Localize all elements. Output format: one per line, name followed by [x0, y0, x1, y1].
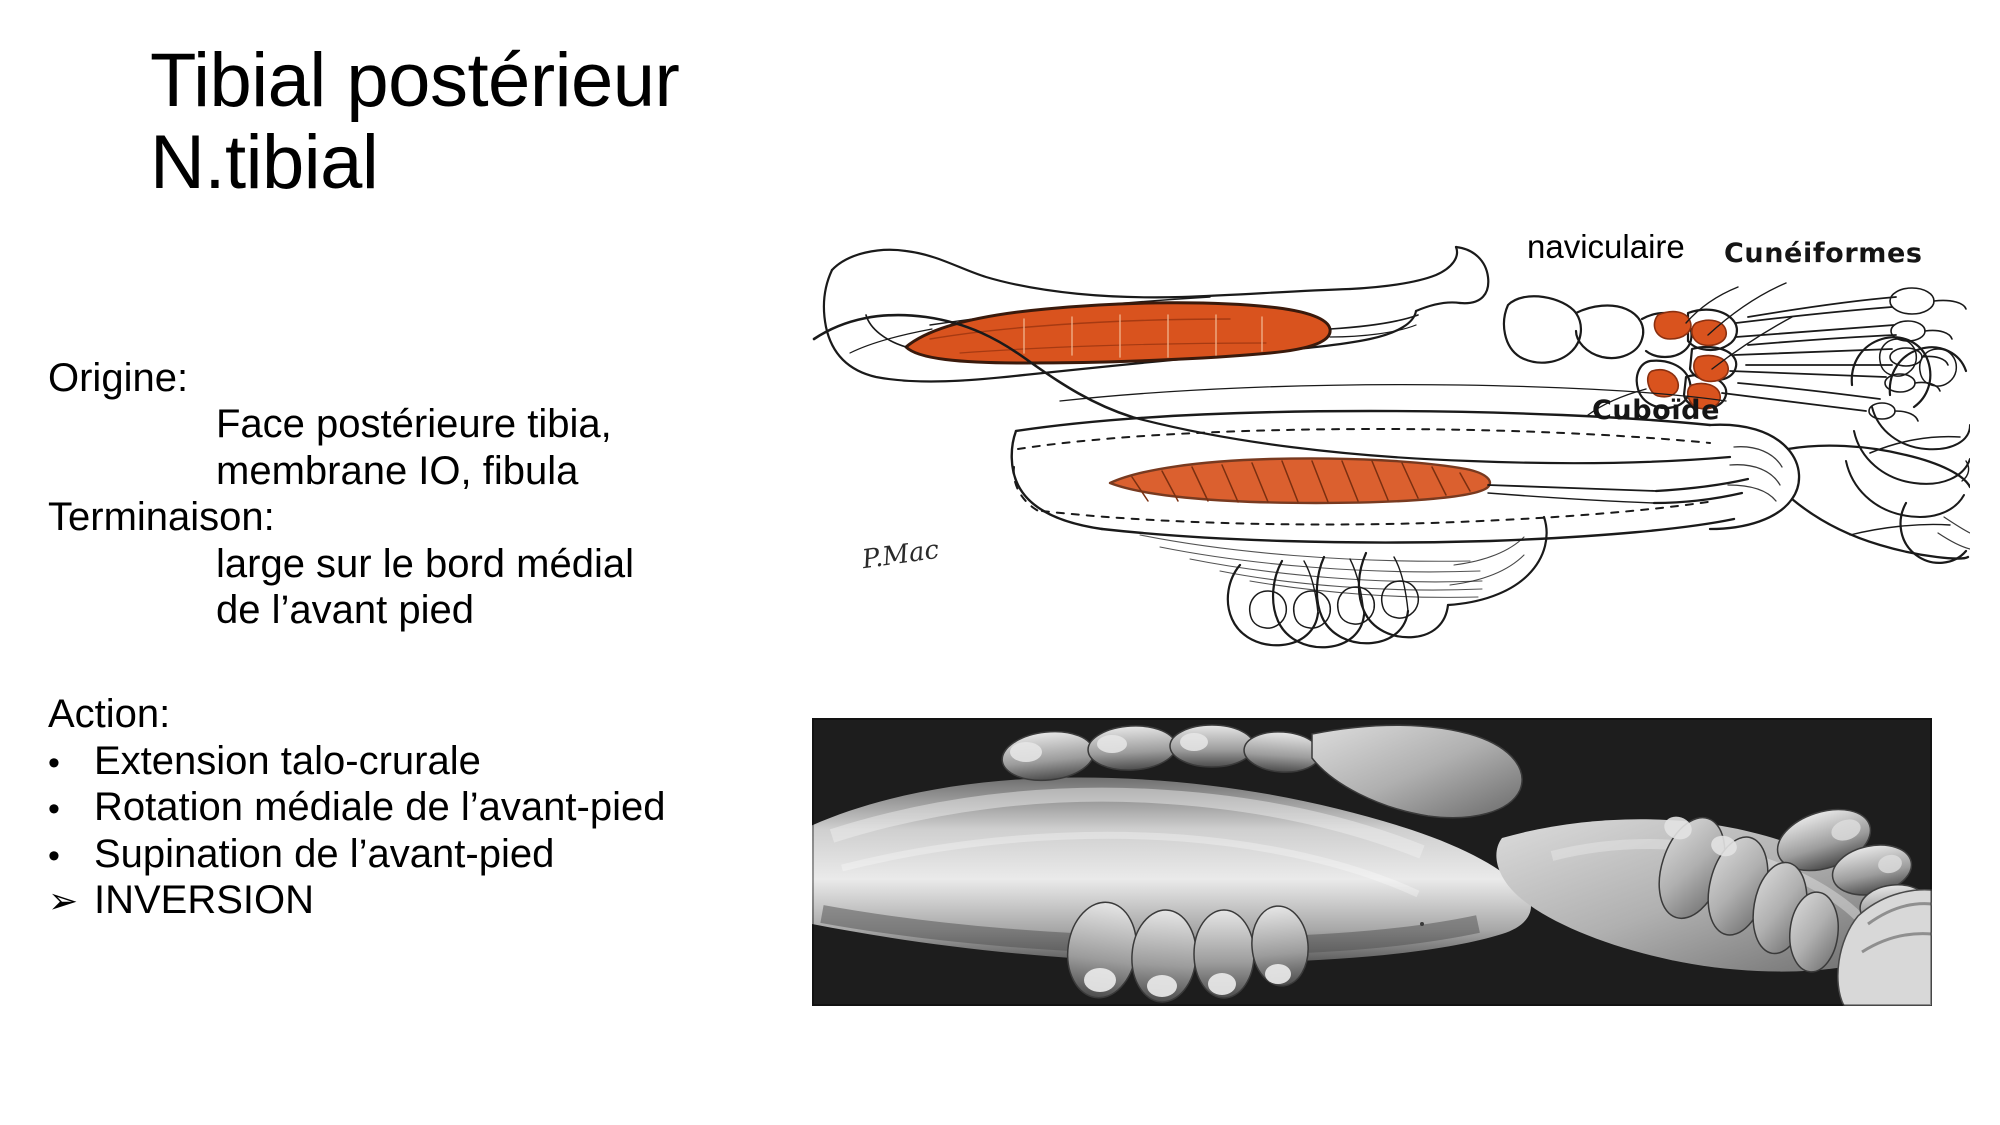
label-naviculaire: naviculaire	[1527, 228, 1685, 266]
page-title: Tibial postérieur N.tibial	[150, 40, 1050, 204]
list-item: • Extension talo-crurale	[48, 738, 868, 784]
body-content: Origine: Face postérieure tibia, membran…	[48, 355, 868, 923]
bullet-dot-icon: •	[48, 837, 94, 876]
body-spacer	[48, 633, 868, 691]
section-terminaison: Terminaison: large sur le bord médial de…	[48, 494, 868, 633]
arrow-bullet-icon: ➢	[48, 880, 94, 922]
title-line-2: N.tibial	[150, 122, 1050, 204]
bullet-dot-icon: •	[48, 790, 94, 829]
section-action-heading: Action:	[48, 691, 868, 737]
list-item-inversion: ➢ INVERSION	[48, 877, 868, 923]
section-terminaison-line-1: large sur le bord médial	[48, 541, 868, 587]
clinical-photo	[812, 718, 1932, 1006]
anatomy-illustration	[810, 235, 1970, 665]
list-item: • Supination de l’avant-pied	[48, 831, 868, 877]
list-item: • Rotation médiale de l’avant-pied	[48, 784, 868, 830]
section-terminaison-heading: Terminaison:	[48, 494, 868, 540]
title-line-1: Tibial postérieur	[150, 40, 1050, 122]
bullet-dot-icon: •	[48, 744, 94, 783]
list-item-label: Rotation médiale de l’avant-pied	[94, 784, 665, 830]
section-origine-heading: Origine:	[48, 355, 868, 401]
section-origine-line-2: membrane IO, fibula	[48, 448, 868, 494]
label-cuneiformes: Cunéiformes	[1724, 238, 1923, 269]
list-item-label: Supination de l’avant-pied	[94, 831, 554, 877]
section-terminaison-line-2: de l’avant pied	[48, 587, 868, 633]
slide: Tibial postérieur N.tibial Origine: Face…	[0, 0, 2000, 1125]
list-item-label: INVERSION	[94, 877, 314, 923]
label-cuboide: Cuboïde	[1592, 395, 1720, 426]
section-origine: Origine: Face postérieure tibia, membran…	[48, 355, 868, 494]
clinical-photo-svg	[812, 718, 1932, 1006]
list-item-label: Extension talo-crurale	[94, 738, 481, 784]
section-action: Action: • Extension talo-crurale • Rotat…	[48, 691, 868, 923]
section-origine-line-1: Face postérieure tibia,	[48, 401, 868, 447]
anatomy-illustration-svg	[810, 235, 1970, 665]
